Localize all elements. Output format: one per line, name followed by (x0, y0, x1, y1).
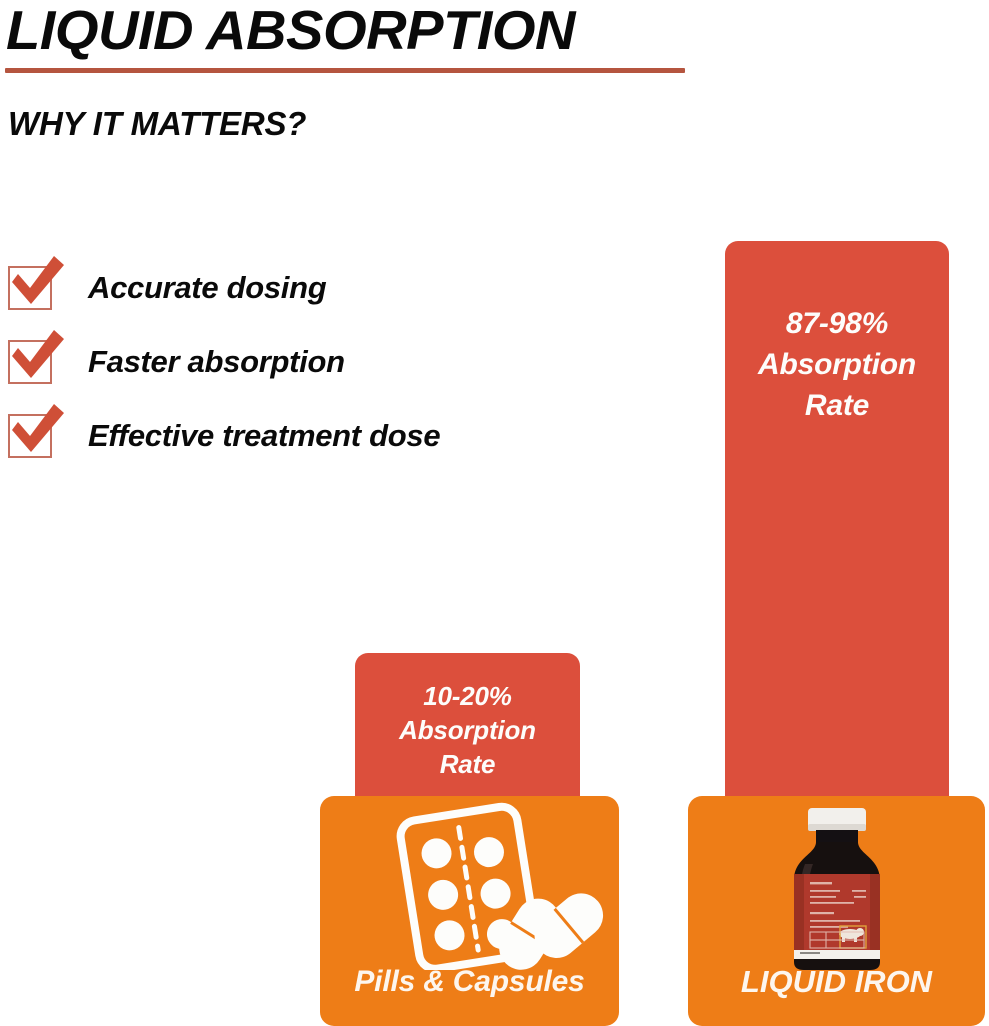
list-item: Faster absorption (4, 332, 624, 406)
bar-value-line3: Rate (725, 385, 949, 426)
page-subtitle: WHY IT MATTERS? (8, 104, 306, 144)
category-card-liquid-iron: LIQUID IRON (688, 796, 985, 1026)
infographic-canvas: LIQUID ABSORPTION WHY IT MATTERS? Accura… (0, 0, 989, 1024)
bar-value-line2: Absorption (355, 713, 580, 747)
list-item: Effective treatment dose (4, 406, 624, 480)
category-label-liquid-iron: LIQUID IRON (688, 964, 985, 1000)
title-divider (5, 68, 685, 73)
checkbox-outline (8, 414, 52, 458)
bar-value-line2: Absorption (725, 344, 949, 385)
supplement-bottle-icon (688, 802, 985, 970)
blister-pack-and-capsules-icon (320, 802, 619, 970)
list-item-label: Faster absorption (88, 336, 345, 388)
checkbox-outline (8, 266, 52, 310)
checkbox-outline (8, 340, 52, 384)
list-item-label: Effective treatment dose (88, 410, 440, 462)
benefits-checklist: Accurate dosing Faster absorption Effect… (4, 258, 624, 480)
category-card-pills-capsules: Pills & Capsules (320, 796, 619, 1026)
bar-value-line3: Rate (355, 747, 580, 781)
category-label-pills-capsules: Pills & Capsules (320, 964, 619, 1000)
bar-value-line1: 87-98% (725, 303, 949, 344)
page-title: LIQUID ABSORPTION (6, 0, 575, 62)
list-item: Accurate dosing (4, 258, 624, 332)
bar-value-liquid-iron: 87-98% Absorption Rate (725, 303, 949, 426)
bar-value-pills-capsules: 10-20% Absorption Rate (355, 679, 580, 781)
bar-liquid-iron: 87-98% Absorption Rate (725, 241, 949, 861)
list-item-label: Accurate dosing (88, 262, 326, 314)
bar-value-line1: 10-20% (355, 679, 580, 713)
